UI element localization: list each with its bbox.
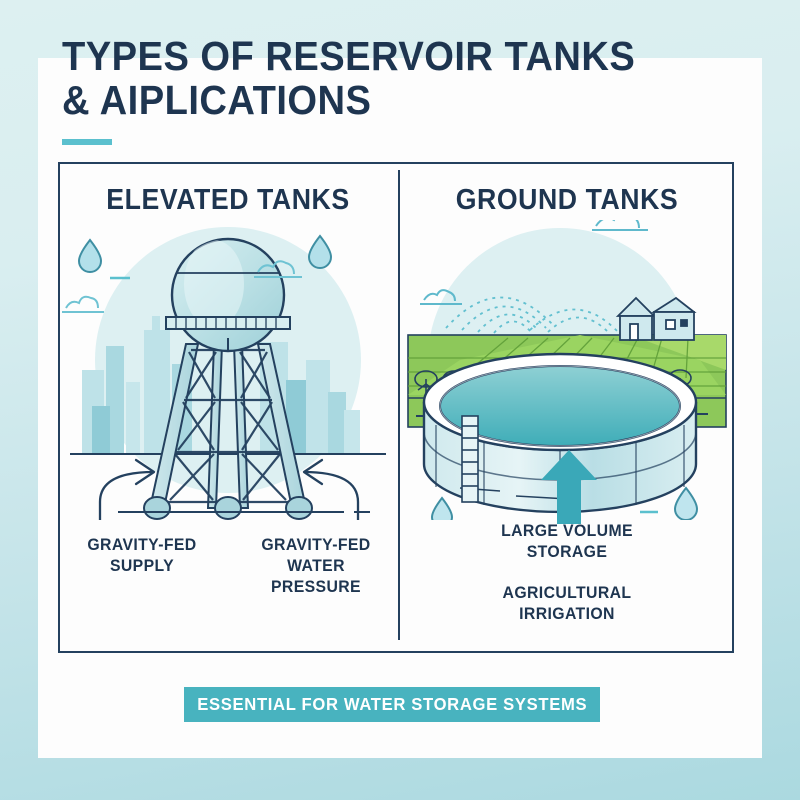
panel-heading-elevated: ELEVATED TANKS: [72, 184, 385, 217]
water-droplet-icon: [79, 240, 101, 272]
page-title: TYPES OF RESERVOIR TANKS & AIPLICATIONS: [62, 34, 657, 122]
panel-heading-ground: GROUND TANKS: [413, 184, 720, 217]
water-droplet-icon: [309, 236, 331, 268]
bottom-banner: ESSENTIAL FOR WATER STORAGE SYSTEMS: [184, 687, 600, 722]
caption-gravity-fed-supply: GRAVITY-FED SUPPLY: [69, 534, 214, 576]
infographic-poster: TYPES OF RESERVOIR TANKS & AIPLICATIONS …: [0, 0, 800, 800]
title-accent-bar: [62, 139, 112, 145]
arrow-up-icon: [541, 450, 597, 524]
caption-agricultural-irrigation: AGRICULTURAL IRRIGATION: [465, 582, 670, 624]
cloud-icon: [62, 297, 104, 312]
caption-large-volume-storage: LARGE VOLUME STORAGE: [465, 520, 670, 562]
water-droplet-icon: [432, 498, 452, 520]
panel-elevated-tanks: ELEVATED TANKS: [58, 162, 398, 653]
bottom-banner-text: ESSENTIAL FOR WATER STORAGE SYSTEMS: [197, 694, 587, 715]
water-droplet-icon: [675, 488, 697, 520]
ladder-icon: [462, 416, 478, 502]
water-tower-illustration: [58, 220, 398, 520]
panel-ground-tanks: GROUND TANKS: [400, 162, 734, 653]
caption-gravity-fed-water-pressure: GRAVITY-FED WATER PRESSURE: [243, 534, 388, 597]
cloud-icon: [592, 220, 648, 230]
